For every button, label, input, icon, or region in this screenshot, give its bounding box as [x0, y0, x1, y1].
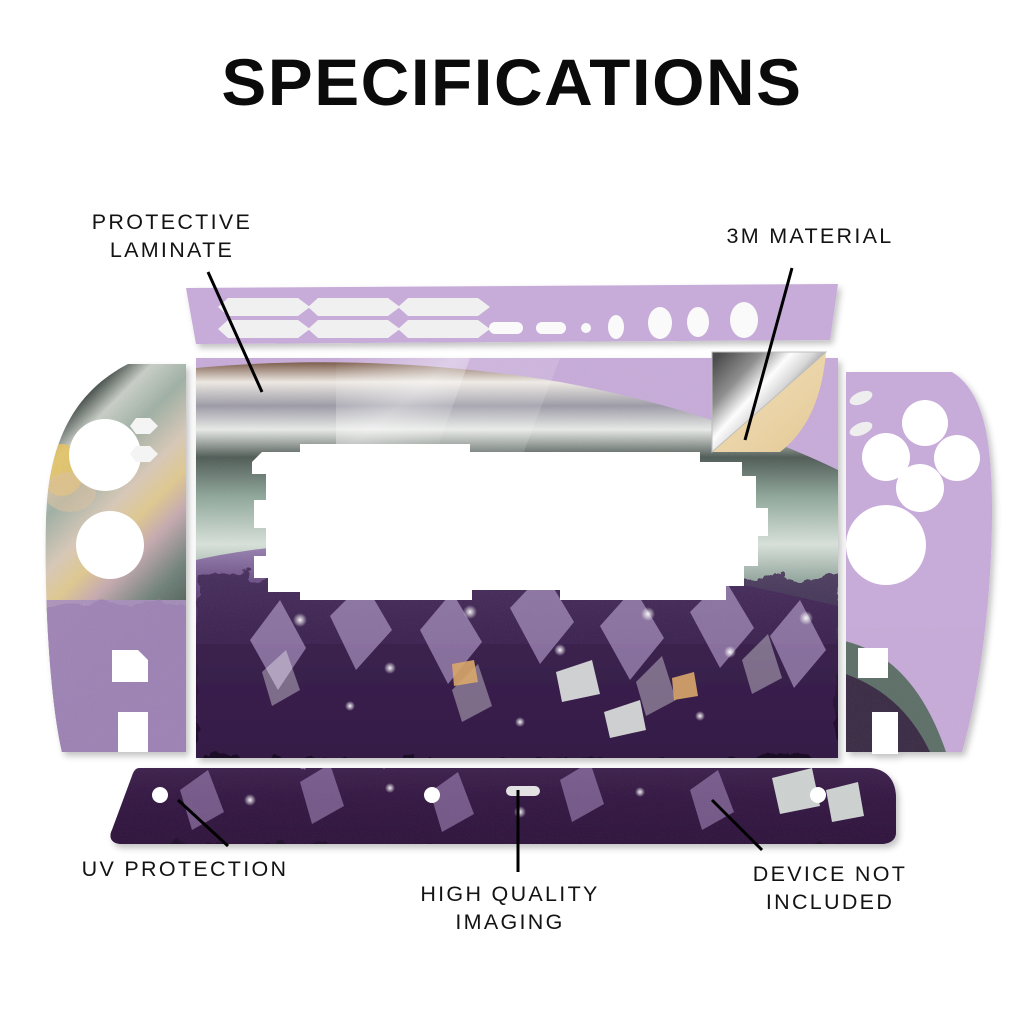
callout-label-3m-material: 3M MATERIAL	[630, 222, 990, 250]
callout-label-uv-protection: UV PROTECTION	[0, 855, 380, 883]
callout-label-high-quality-imaging: HIGH QUALITY IMAGING	[375, 880, 645, 937]
panel-left-controller	[40, 358, 200, 760]
panel-kickstand-strip	[100, 760, 900, 850]
callout-label-device-not-included: DEVICE NOT INCLUDED	[665, 860, 995, 917]
panel-right-controller	[840, 360, 1000, 760]
specification-sheet: SPECIFICATIONS	[0, 0, 1024, 1024]
panel-top-vent-strip	[186, 284, 838, 344]
callout-label-protective-laminate: PROTECTIVE LAMINATE	[22, 208, 322, 265]
